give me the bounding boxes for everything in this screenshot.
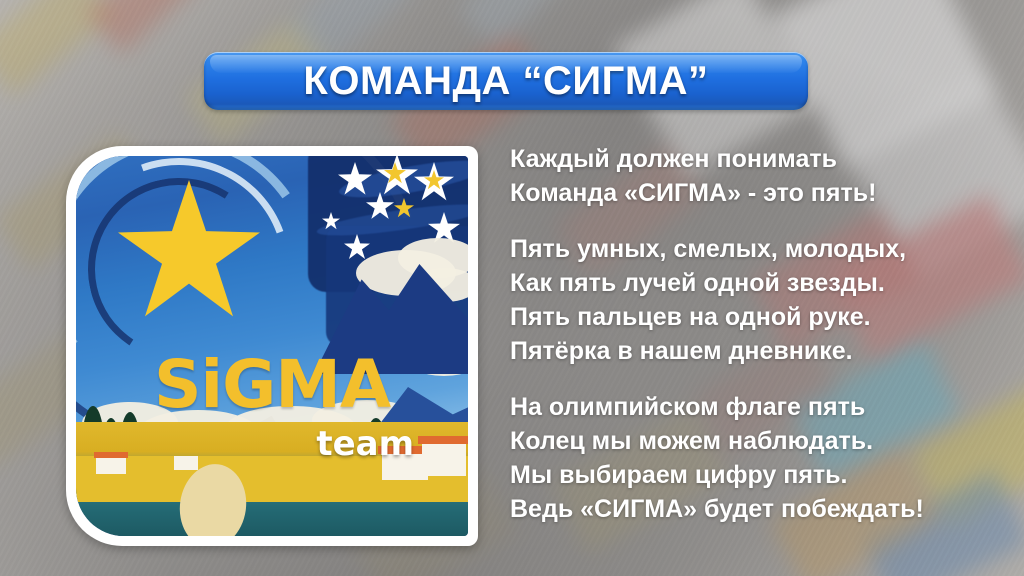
house bbox=[174, 456, 198, 470]
page-title: КОМАНДА “СИГМА” bbox=[303, 59, 708, 104]
poem-line: На олимпийском флаге пять bbox=[510, 390, 1022, 424]
house-roof bbox=[94, 452, 128, 458]
poem-stanza: Пять умных, смелых, молодых, Как пять лу… bbox=[510, 232, 1022, 368]
artwork-card: SiGMA team bbox=[66, 146, 478, 546]
poem-line: Каждый должен понимать bbox=[510, 142, 1022, 176]
title-banner: КОМАНДА “СИГМА” bbox=[204, 52, 808, 110]
house bbox=[96, 456, 126, 474]
house-roof bbox=[418, 436, 468, 444]
poem-line: Пять пальцев на одной руке. bbox=[510, 300, 1022, 334]
poem-line: Мы выбираем цифру пять. bbox=[510, 458, 1022, 492]
slide-root: КОМАНДА “СИГМА” bbox=[0, 0, 1024, 576]
poem-line: Ведь «СИГМА» будет побеждать! bbox=[510, 492, 1022, 526]
brand-subword: team bbox=[316, 424, 414, 464]
poem-line: Как пять лучей одной звезды. bbox=[510, 266, 1022, 300]
poem-line: Пятёрка в нашем дневнике. bbox=[510, 334, 1022, 368]
poem-block: Каждый должен понимать Команда «СИГМА» -… bbox=[510, 142, 1022, 526]
poem-line: Пять умных, смелых, молодых, bbox=[510, 232, 1022, 266]
poem-line: Колец мы можем наблюдать. bbox=[510, 424, 1022, 458]
poem-stanza: Каждый должен понимать Команда «СИГМА» -… bbox=[510, 142, 1022, 210]
artwork-image: SiGMA team bbox=[76, 156, 468, 536]
brand-wordmark: SiGMA bbox=[76, 346, 468, 423]
poem-line: Команда «СИГМА» - это пять! bbox=[510, 176, 1022, 210]
house bbox=[422, 442, 466, 476]
poem-stanza: На олимпийском флаге пять Колец мы можем… bbox=[510, 390, 1022, 526]
